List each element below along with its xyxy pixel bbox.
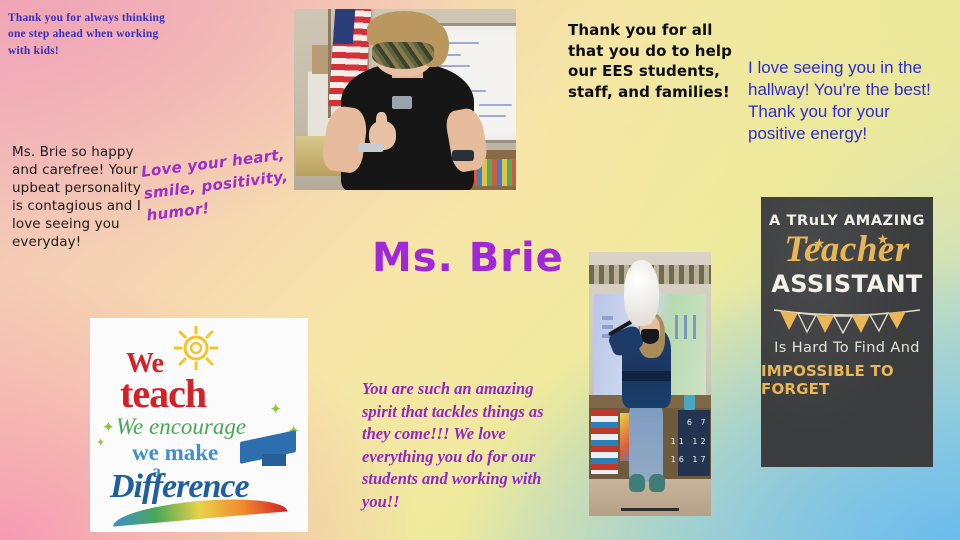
photo2-cup: [684, 395, 695, 411]
photo-teacher-thumbs-up: [294, 9, 516, 190]
poster-line-assistant: ASSISTANT: [771, 270, 922, 298]
poster-line-is-hard-to-find: Is Hard To Find And: [774, 340, 920, 356]
note-happy-carefree: Ms. Brie so happy and carefree! Your upb…: [12, 144, 142, 252]
note-amazing-spirit: You are such an amazing spirit that tack…: [362, 378, 552, 514]
photo1-watch: [452, 150, 474, 161]
photo2-face-mask: [641, 329, 658, 345]
photo1-badge: [392, 96, 412, 109]
appreciation-slide: Thank you for always thinking one step a…: [0, 0, 960, 540]
photo2-floor-line: [621, 508, 680, 511]
star-icon: ★: [876, 231, 889, 248]
clipart-line-we-make: we make: [132, 440, 218, 466]
photo2-person-shoe-right: [649, 474, 665, 492]
sun-icon: [174, 326, 218, 370]
star-icon: ✦: [269, 400, 282, 418]
photo2-person-shoe-left: [629, 474, 645, 492]
star-icon: ✦: [102, 418, 115, 436]
page-title: Ms. Brie: [372, 235, 564, 281]
photo2-sweater-stripe: [622, 371, 671, 382]
photo1-bracelet: [358, 143, 382, 152]
photo-teacher-standing: 6 7 11 12 16 17: [589, 252, 711, 516]
star-icon: ✦: [96, 436, 105, 449]
photo1-thumbs-up-thumb: [376, 112, 387, 130]
note-thank-you-ees: Thank you for all that you do to help ou…: [568, 20, 733, 103]
clipart-we-teach-we-make-a-difference: ✦ ✦ ✦ ✦ We teach We encourage we make a …: [90, 318, 308, 532]
bunting-flags-icon: [772, 304, 922, 334]
poster-line-teacher: Teacher: [761, 231, 933, 268]
photo1-camouflage-face-mask: [372, 42, 434, 69]
poster-line-impossible-to-forget: IMPOSSIBLE TO FORGET: [761, 362, 933, 398]
photo2-person-legs: [629, 402, 663, 481]
clipart-line-teach: teach: [120, 370, 206, 417]
note-hallway-positive-energy: I love seeing you in the hallway! You're…: [748, 57, 948, 145]
photo2-white-paper-shape: [624, 260, 658, 326]
poster-truly-amazing-teacher-assistant: A TRuLY AMAZING ★ ★ Teacher ASSISTANT Is…: [761, 197, 933, 467]
note-thank-you-thinking-ahead: Thank you for always thinking one step a…: [8, 10, 168, 59]
poster-line-a-truly-amazing: A TRuLY AMAZING: [769, 213, 925, 229]
photo2-chart-left: [591, 410, 618, 473]
star-icon: ★: [813, 235, 826, 252]
clipart-line-encourage: We encourage: [116, 414, 246, 440]
graduation-cap-base-icon: [262, 454, 286, 466]
